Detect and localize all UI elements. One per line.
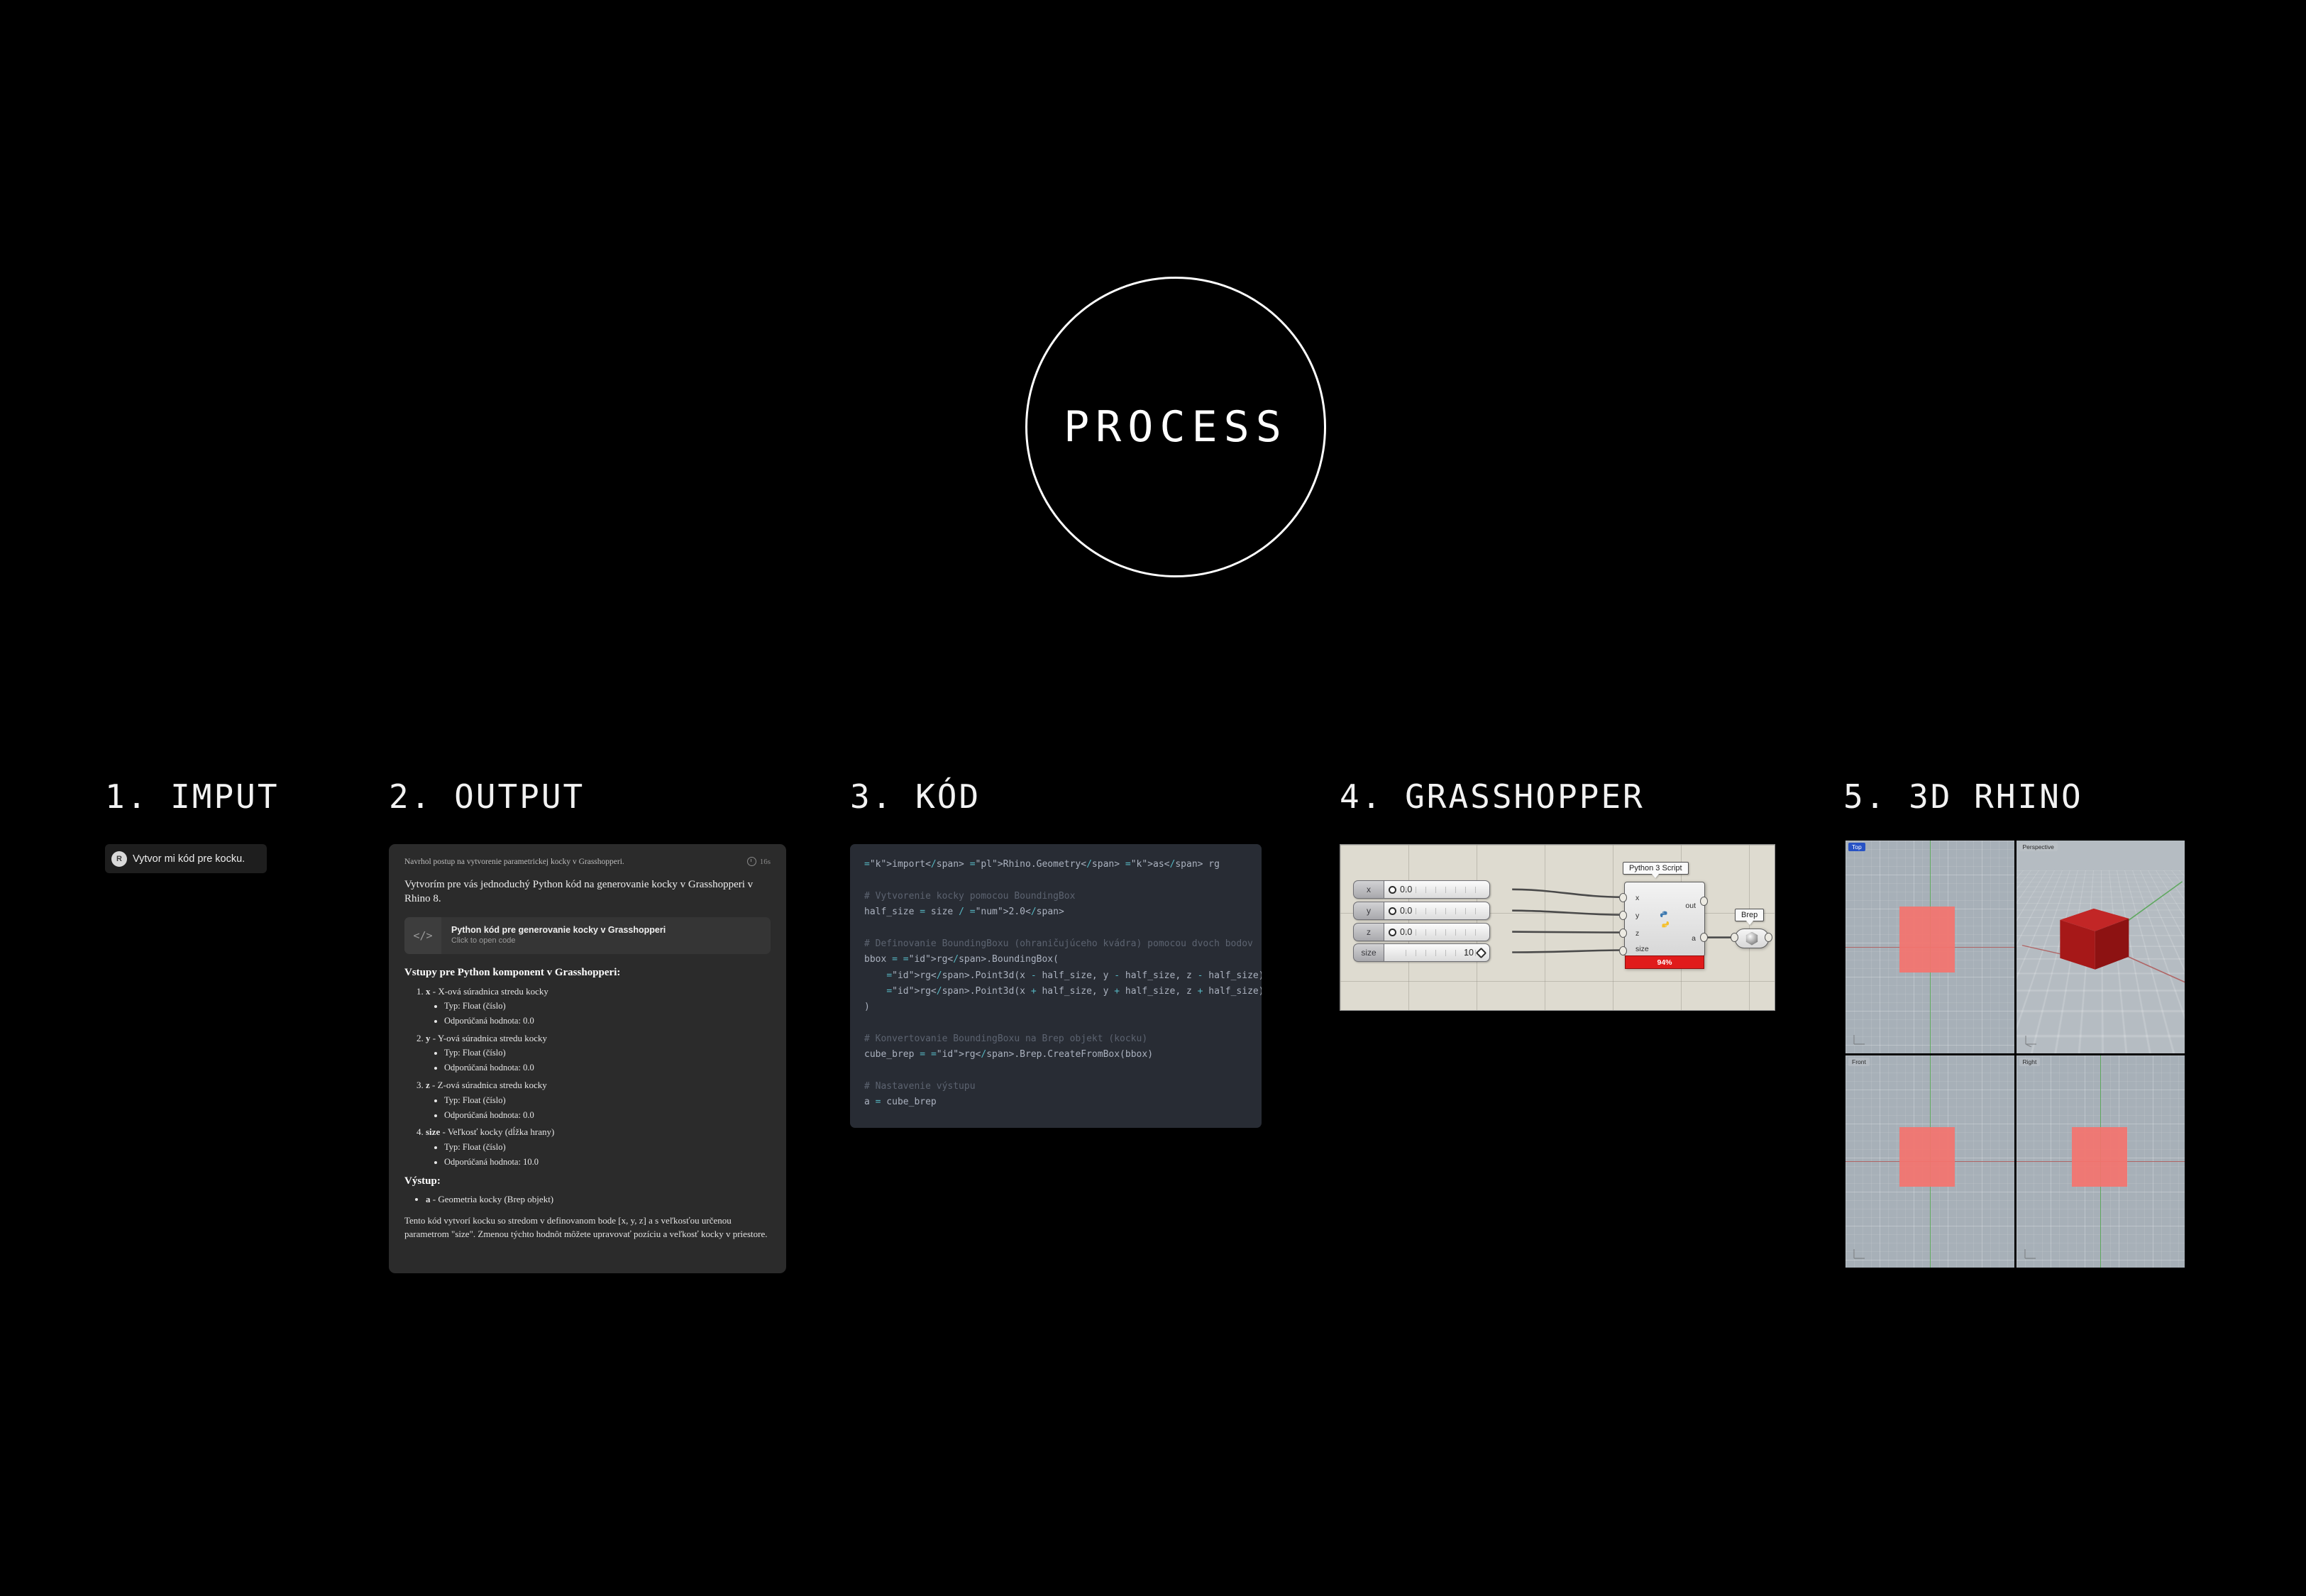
step-5-rhino: 5. 3D RHINO [1843,780,2083,813]
inputs-heading: Vstupy pre Python komponent v Grasshoppe… [404,967,771,979]
response-meta-row: Navrhol postup na vytvorenie parametrick… [404,857,771,866]
output-port-label-out: out [1685,902,1696,910]
step-1-input: 1. IMPUT [105,780,280,813]
step-3-code: 3. KÓD [850,780,981,813]
input-port-label-x: x [1635,894,1639,902]
process-label: PROCESS [1064,402,1288,452]
code-line: bbox = ="id">rg</span>.BoundingBox( [864,952,1247,968]
slider-value: 0.0 [1400,885,1412,894]
grasshopper-canvas[interactable]: x 0.0 y 0.0 z 0.0 size 10 Python 3 Scrip… [1340,844,1775,1011]
brep-parameter[interactable] [1735,929,1769,948]
code-icon: </> [404,917,441,954]
param-name-tag: Brep [1735,909,1764,921]
slider-track[interactable]: 0.0 [1384,880,1490,899]
port-out-out[interactable] [1700,897,1708,906]
slider-track[interactable]: 0.0 [1384,902,1490,920]
python-script-component[interactable]: x y z size out a 94% [1624,882,1705,957]
viewport-front[interactable]: Front [1846,1055,2014,1268]
step-title: 1. IMPUT [105,780,280,813]
input-param-item: x - X-ová súradnica stredu kockyTyp: Flo… [426,985,771,1027]
axis-gnomon-icon [1852,1031,1870,1047]
code-line: # Vytvorenie kocky pomocou BoundingBox [864,889,1247,904]
code-line: half_size = size / ="num">2.0</span> [864,904,1247,920]
cube-object[interactable] [2072,1127,2127,1187]
component-progress-bar: 94% [1625,955,1704,969]
process-badge: PROCESS [1025,277,1326,577]
slider-ticks [1406,887,1482,893]
port-in-x[interactable] [1619,893,1627,902]
slider-value: 10 [1464,948,1474,958]
slider-label: y [1353,902,1384,920]
code-editor-panel[interactable]: ="k">import</span> ="pl">Rhino.Geometry<… [850,844,1262,1128]
slider-z[interactable]: z 0.0 [1353,923,1490,941]
code-line [864,1063,1247,1079]
code-line [864,920,1247,936]
assistant-response-panel[interactable]: Navrhol postup na vytvorenie parametrick… [389,844,786,1273]
code-artifact-title: Python kód pre generovanie kocky v Grass… [451,924,666,936]
chat-prompt-bubble[interactable]: R Vytvor mi kód pre kocku. [105,844,267,873]
param-name: size [426,1126,440,1137]
viewport-label-front[interactable]: Front [1848,1058,1870,1066]
viewport-right[interactable]: Right [2017,1055,2185,1268]
param-detail: Odporúčaná hodnota: 10.0 [444,1156,771,1168]
slider-knob[interactable] [1389,907,1396,915]
progress-label: 94% [1657,958,1672,967]
param-name: a [426,1194,431,1204]
param-name: z [426,1080,430,1090]
axis-gnomon-icon [1852,1246,1870,1261]
slider-x[interactable]: x 0.0 [1353,880,1490,899]
slider-value: 0.0 [1400,906,1412,916]
clock-icon [747,857,756,866]
input-param-item: z - Z-ová súradnica stredu kockyTyp: Flo… [426,1079,771,1121]
step-2-output: 2. OUTPUT [389,780,585,813]
output-param-item: a - Geometria kocky (Brep objekt) [426,1194,771,1205]
port-in-z[interactable] [1619,929,1627,938]
param-detail: Odporúčaná hodnota: 0.0 [444,1062,771,1074]
input-port-label-size: size [1635,945,1649,953]
code-artifact-subtitle: Click to open code [451,936,666,946]
brep-geometry-icon [1745,932,1759,946]
code-line [864,872,1247,888]
code-line: # Definovanie BoundingBoxu (ohraničujúce… [864,936,1247,952]
slider-label: size [1353,943,1384,962]
code-line: cube_brep = ="id">rg</span>.Brep.CreateF… [864,1047,1247,1063]
param-detail: Typ: Float (číslo) [444,1000,771,1012]
axis-gnomon-icon [2023,1246,2041,1261]
input-port-label-z: z [1635,929,1639,938]
code-line [864,1016,1247,1031]
port-brep-in[interactable] [1731,933,1738,942]
viewport-top[interactable]: Top [1846,841,2014,1053]
viewport-label-right[interactable]: Right [2019,1058,2041,1066]
slider-y[interactable]: y 0.0 [1353,902,1490,920]
port-out-a[interactable] [1700,933,1708,942]
code-line: # Konvertovanie BoundingBoxu na Brep obj… [864,1031,1247,1047]
input-param-item: y - Y-ová súradnica stredu kockyTyp: Flo… [426,1032,771,1074]
status-text: Navrhol postup na vytvorenie parametrick… [404,858,624,866]
slider-value: 0.0 [1400,927,1412,937]
port-brep-out[interactable] [1765,933,1772,942]
param-name: y [426,1033,431,1043]
closing-paragraph: Tento kód vytvorí kocku so stredom v def… [404,1214,771,1241]
code-line: ="id">rg</span>.Point3d(x - half_size, y… [864,968,1247,984]
viewport-label-perspective[interactable]: Perspective [2019,843,2058,851]
port-in-y[interactable] [1619,911,1627,920]
code-artifact-card[interactable]: </> Python kód pre generovanie kocky v G… [404,917,771,954]
param-detail: Odporúčaná hodnota: 0.0 [444,1109,771,1121]
input-param-item: size - Veľkosť kocky (dĺžka hrany)Typ: F… [426,1126,771,1168]
param-name: x [426,986,431,997]
slider-knob[interactable] [1389,886,1396,894]
avatar: R [111,851,127,867]
slider-track[interactable]: 0.0 [1384,923,1490,941]
prompt-text: Vytvor mi kód pre kocku. [133,853,245,865]
step-title: 5. 3D RHINO [1843,780,2083,813]
step-title: 4. GRASSHOPPER [1340,780,1645,813]
output-port-label-a: a [1692,934,1696,943]
slider-ticks [1406,908,1482,914]
slider-label: x [1353,880,1384,899]
viewport-perspective[interactable]: Perspective [2017,841,2185,1053]
port-in-size[interactable] [1619,946,1627,955]
slider-knob[interactable] [1476,947,1487,958]
slider-label: z [1353,923,1384,941]
param-detail: Typ: Float (číslo) [444,1047,771,1059]
cube-object[interactable] [1899,1127,1955,1187]
slider-track[interactable]: 10 [1384,943,1490,962]
response-intro: Vytvorím pre vás jednoduchý Python kód n… [404,877,771,907]
viewport-label-top[interactable]: Top [1848,843,1865,851]
python-logo-icon [1655,910,1674,929]
perspective-scene [2017,841,2185,1053]
axis-gnomon-icon [2023,1031,2041,1047]
cube-object[interactable] [1899,907,1955,972]
step-title: 3. KÓD [850,780,981,813]
code-line: a = cube_brep [864,1095,1247,1110]
param-detail: Odporúčaná hodnota: 0.0 [444,1015,771,1027]
inputs-list: x - X-ová súradnica stredu kockyTyp: Flo… [404,985,771,1168]
step-4-grasshopper: 4. GRASSHOPPER [1340,780,1645,813]
output-heading: Výstup: [404,1175,771,1187]
rhino-viewport-grid[interactable]: Top Perspective Front [1843,838,2187,1270]
code-line: # Nastavenie výstupu [864,1079,1247,1095]
step-title: 2. OUTPUT [389,780,585,813]
code-line: ) [864,999,1247,1015]
slider-size[interactable]: size 10 [1353,943,1490,962]
code-line: ="id">rg</span>.Point3d(x + half_size, y… [864,984,1247,999]
duration-text: 16s [760,858,771,866]
param-detail: Typ: Float (číslo) [444,1141,771,1153]
duration-badge: 16s [747,857,771,866]
param-detail: Typ: Float (číslo) [444,1095,771,1107]
outputs-list: a - Geometria kocky (Brep objekt) [404,1194,771,1205]
component-name-tag: Python 3 Script [1623,862,1689,875]
code-line: ="k">import</span> ="pl">Rhino.Geometry<… [864,857,1247,872]
slider-knob[interactable] [1389,929,1396,936]
slider-ticks [1406,929,1482,936]
input-port-label-y: y [1635,911,1639,920]
